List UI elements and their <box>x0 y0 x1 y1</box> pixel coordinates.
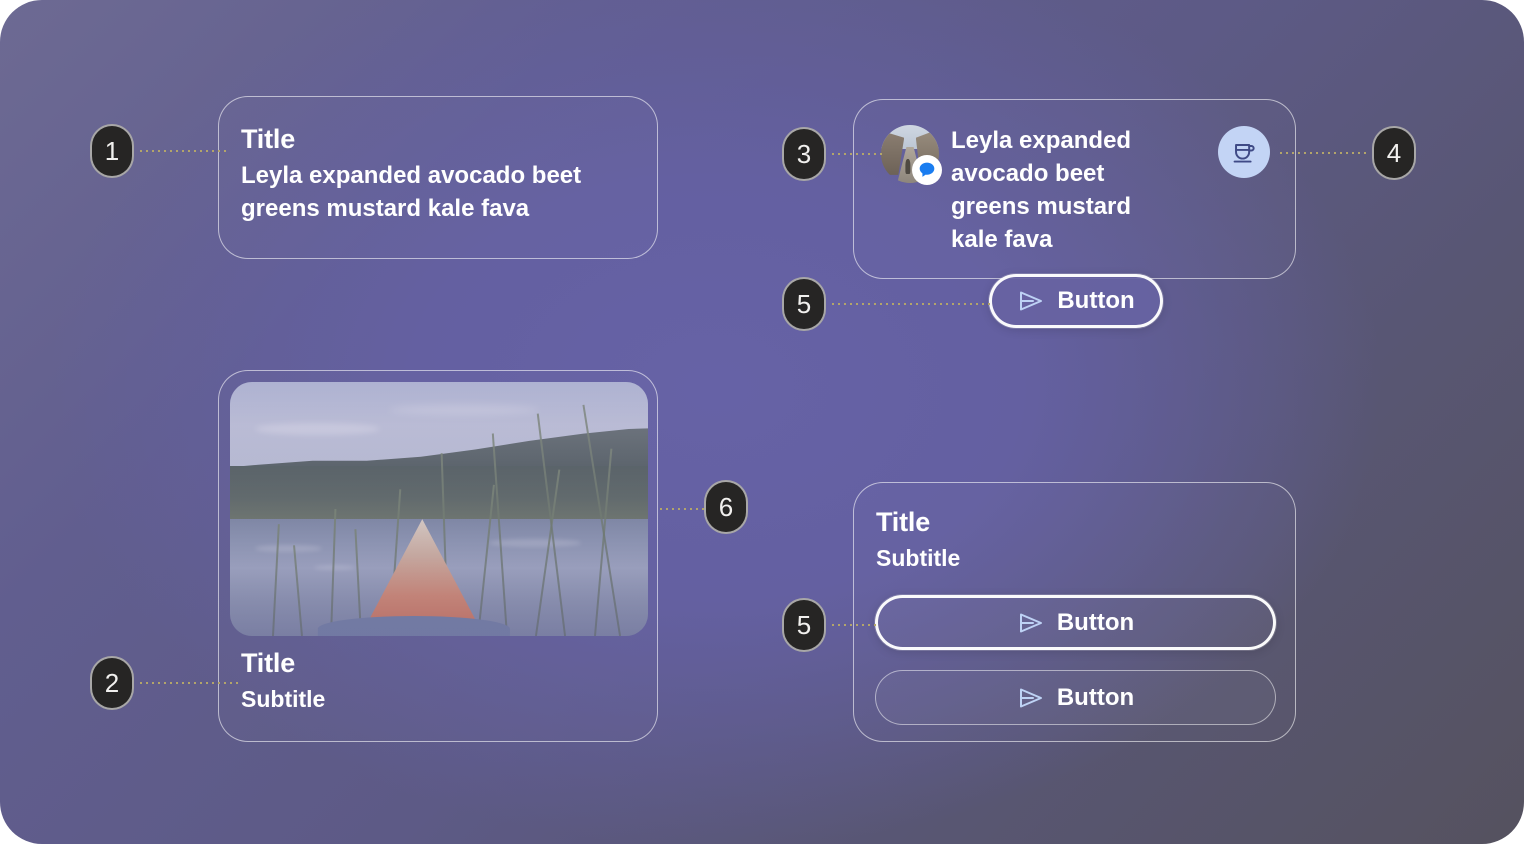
text-card[interactable]: Title Leyla expanded avocado beet greens… <box>218 96 658 259</box>
message-card[interactable]: Leyla expanded avocado beet greens musta… <box>853 99 1296 279</box>
annotation-marker-1[interactable]: 1 <box>90 124 134 178</box>
actions-card-second-button[interactable]: Button <box>875 670 1276 725</box>
leader-line-4 <box>1280 152 1368 154</box>
annotation-marker-6[interactable]: 6 <box>704 480 748 534</box>
actions-card-second-button-label: Button <box>1057 684 1134 712</box>
coffee-cup-icon[interactable] <box>1218 126 1270 178</box>
actions-card-subtitle: Subtitle <box>876 545 960 572</box>
actions-card-first-button[interactable]: Button <box>875 595 1276 650</box>
message-card-body: Leyla expanded avocado beet greens musta… <box>951 124 1179 256</box>
image-card-subtitle: Subtitle <box>241 686 325 713</box>
send-icon <box>1017 609 1045 637</box>
actions-card[interactable]: Title Subtitle Button Button <box>853 482 1296 742</box>
message-card-button[interactable]: Button <box>989 274 1163 328</box>
message-card-button-label: Button <box>1057 287 1134 315</box>
annotation-marker-2[interactable]: 2 <box>90 656 134 710</box>
leader-line-2 <box>140 682 238 684</box>
annotation-marker-5a[interactable]: 5 <box>782 277 826 331</box>
send-icon <box>1017 287 1045 315</box>
actions-card-title: Title <box>876 507 930 538</box>
text-card-title: Title <box>241 124 295 155</box>
leader-line-3 <box>832 153 884 155</box>
actions-card-first-button-label: Button <box>1057 609 1134 637</box>
annotation-marker-4[interactable]: 4 <box>1372 126 1416 180</box>
text-card-body: Leyla expanded avocado beet greens musta… <box>241 159 641 225</box>
leader-line-6 <box>660 508 704 510</box>
annotation-marker-3[interactable]: 3 <box>782 127 826 181</box>
chat-bubble-icon <box>912 155 942 185</box>
avatar-person <box>905 159 910 174</box>
send-icon <box>1017 684 1045 712</box>
leader-line-5b <box>832 624 880 626</box>
annotation-marker-5b[interactable]: 5 <box>782 598 826 652</box>
leader-line-1 <box>140 150 228 152</box>
photo-tint-overlay <box>230 382 648 636</box>
leader-line-5a <box>832 303 992 305</box>
image-card[interactable]: Title Subtitle <box>218 370 658 742</box>
design-canvas: Title Leyla expanded avocado beet greens… <box>0 0 1524 844</box>
image-card-photo <box>230 382 648 636</box>
image-card-title: Title <box>241 648 295 679</box>
